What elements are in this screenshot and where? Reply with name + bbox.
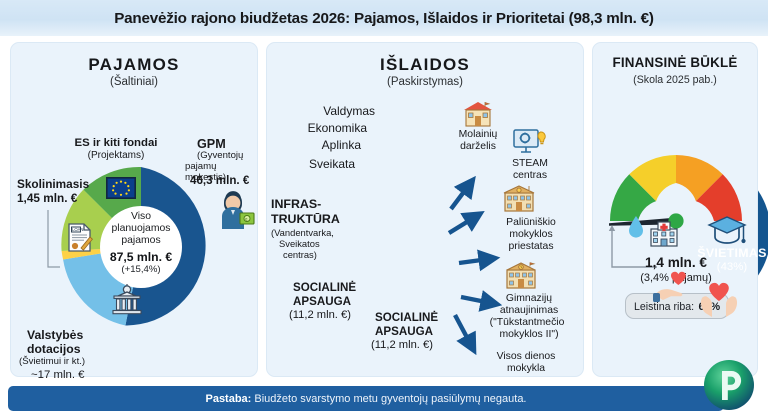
donut-center-line3: pajamos — [95, 235, 187, 247]
header-band: Panevėžio rajono biudžetas 2026: Pajamos… — [0, 0, 768, 36]
callout-gpm-title: GPM — [197, 137, 226, 151]
donut-center-text: Viso planuojamos pajamos 87,5 mln. € (+1… — [95, 211, 187, 275]
pie-education-percent: (43%) — [689, 261, 768, 274]
pie-education-label: ŠVIETIMAS (43%) — [689, 247, 768, 274]
pie-label-social-bottom-amount: (11,2 mln. €) — [371, 339, 433, 352]
pie-label-social-bottom-title1: SOCIALINĖ — [375, 311, 438, 324]
callout-valstybes-amount: ~17 mln. € — [31, 369, 85, 382]
water-drop-icon — [627, 215, 645, 239]
footer-note-body: Biudžeto svarstymo metu gyventojų pasiūl… — [251, 393, 526, 405]
pie-label-sveikata: Sveikata — [267, 158, 355, 171]
priority-label-gimnaziju-1: Gimnazijų — [473, 293, 585, 305]
eu-flag-icon — [106, 177, 136, 199]
expense-panel: IŠLAIDOS (Paskirstymas) — [266, 42, 584, 377]
income-panel-subtitle: (Šaltiniai) — [11, 76, 257, 88]
priority-label-visos-dienos-1: Visos dienos — [471, 351, 581, 363]
donut-center-amount: 87,5 mln. € — [95, 250, 187, 264]
graduation-cap-icon — [707, 215, 747, 247]
footer-note-bar: Pastaba: Biudžeto svarstymo metu gyvento… — [8, 386, 724, 411]
callout-es-title: ES ir kiti fondai — [41, 137, 191, 150]
pie-label-infra-sub2: Sveikatos — [279, 239, 320, 250]
donut-center-line1: Viso — [95, 211, 187, 223]
logo-icon — [700, 358, 758, 416]
hand-heart-icon-left — [653, 269, 689, 303]
callout-gpm-amount: 46,3 mln. € — [190, 174, 249, 187]
pie-label-social-left-title1: SOCIALINĖ — [293, 281, 356, 294]
priority-label-visos-dienos-2: mokykla — [471, 363, 581, 375]
priority-label-molainiu-1: Molainių — [435, 129, 521, 141]
pie-label-ekonomika: Ekonomika — [267, 122, 367, 135]
arrow-steam — [449, 217, 475, 233]
pie-label-infra-title2: TRUKTŪRA — [271, 213, 340, 227]
pie-education-title: ŠVIETIMAS — [689, 247, 768, 261]
callout-skolinimasis-amount: 1,45 mln. € — [17, 192, 77, 205]
priority-label-paliuniskio-2: mokyklos — [479, 229, 583, 241]
priority-label-steam-1: STEAM — [487, 158, 573, 170]
school-clock-icon — [505, 261, 537, 289]
pie-label-infra-sub3: centras) — [283, 250, 317, 261]
pie-label-infra-title1: INFRAS- — [271, 198, 321, 212]
government-building-icon — [110, 283, 144, 315]
priority-label-paliuniskio-1: Paliūniškio — [479, 217, 583, 229]
pie-label-infra-sub1: (Vandentvarka, — [271, 228, 334, 239]
callout-valstybes-title1: Valstybės — [27, 329, 83, 343]
priority-label-steam-2: centras — [487, 170, 573, 182]
panevezys-logo — [700, 358, 758, 416]
donut-center-change: (+15,4%) — [95, 264, 187, 275]
svg-text:LOAN: LOAN — [72, 227, 83, 232]
skolinimasis-leader-line — [47, 209, 61, 269]
priority-label-gimnaziju-2: atnaujinimas — [473, 305, 585, 317]
pie-label-valdymas: Valdymas — [267, 105, 375, 118]
expense-panel-title: IŠLAIDOS — [267, 55, 583, 75]
callout-valstybes-sub: (Švietimui ir kt.) — [19, 357, 85, 368]
finance-panel-subtitle: (Skola 2025 pab.) — [593, 74, 757, 86]
callout-es-sub: (Projektams) — [41, 150, 191, 161]
expense-panel-subtitle: (Paskirstymas) — [267, 76, 583, 88]
pie-label-aplinka: Aplinka — [267, 139, 361, 152]
school-building-icon-paliuniskio — [503, 185, 535, 213]
steam-monitor-icon — [513, 128, 547, 156]
hands-heart-icon — [699, 279, 739, 319]
school-building-icon-molainiu — [463, 101, 493, 127]
finance-panel: FINANSINĖ BŪKLĖ (Skola 2025 pab.) — [592, 42, 758, 377]
priority-label-molainiu-2: darželis — [435, 141, 521, 153]
income-panel-title: PAJAMOS — [11, 55, 257, 75]
donut-center-line2: planuojamos — [95, 223, 187, 235]
pie-label-social-left-title2: APSAUGA — [293, 295, 351, 308]
pie-label-social-left-amount: (11,2 mln. €) — [289, 309, 351, 322]
callout-skolinimasis-title: Skolinimasis — [17, 178, 89, 191]
callout-valstybes-title2: dotacijos — [27, 343, 81, 357]
pie-label-social-bottom-title2: APSAUGA — [375, 325, 433, 338]
page-title: Panevėžio rajono biudžetas 2026: Pajamos… — [114, 10, 654, 27]
income-panel: PAJAMOS (Šaltiniai) Viso planuojamos paj — [10, 42, 258, 377]
arrow-molainiu — [451, 185, 469, 209]
infographic-canvas: Panevėžio rajono biudžetas 2026: Pajamos… — [0, 0, 768, 419]
footer-note-text: Pastaba: Biudžeto svarstymo metu gyvento… — [205, 393, 526, 405]
priority-label-paliuniskio-3: priestatas — [479, 241, 583, 253]
taxpayer-person-icon: € — [216, 189, 256, 231]
loan-document-icon: LOAN — [66, 223, 94, 253]
footer-note-prefix: Pastaba: — [205, 393, 251, 405]
finance-panel-title: FINANSINĖ BŪKLĖ — [593, 55, 757, 70]
arrow-paliuniskio — [459, 259, 489, 263]
hospital-building-icon — [649, 221, 679, 247]
priority-label-gimnaziju-3: ("Tūkstantmečio — [469, 317, 585, 329]
priority-label-gimnaziju-4: mokyklos II") — [473, 329, 585, 341]
